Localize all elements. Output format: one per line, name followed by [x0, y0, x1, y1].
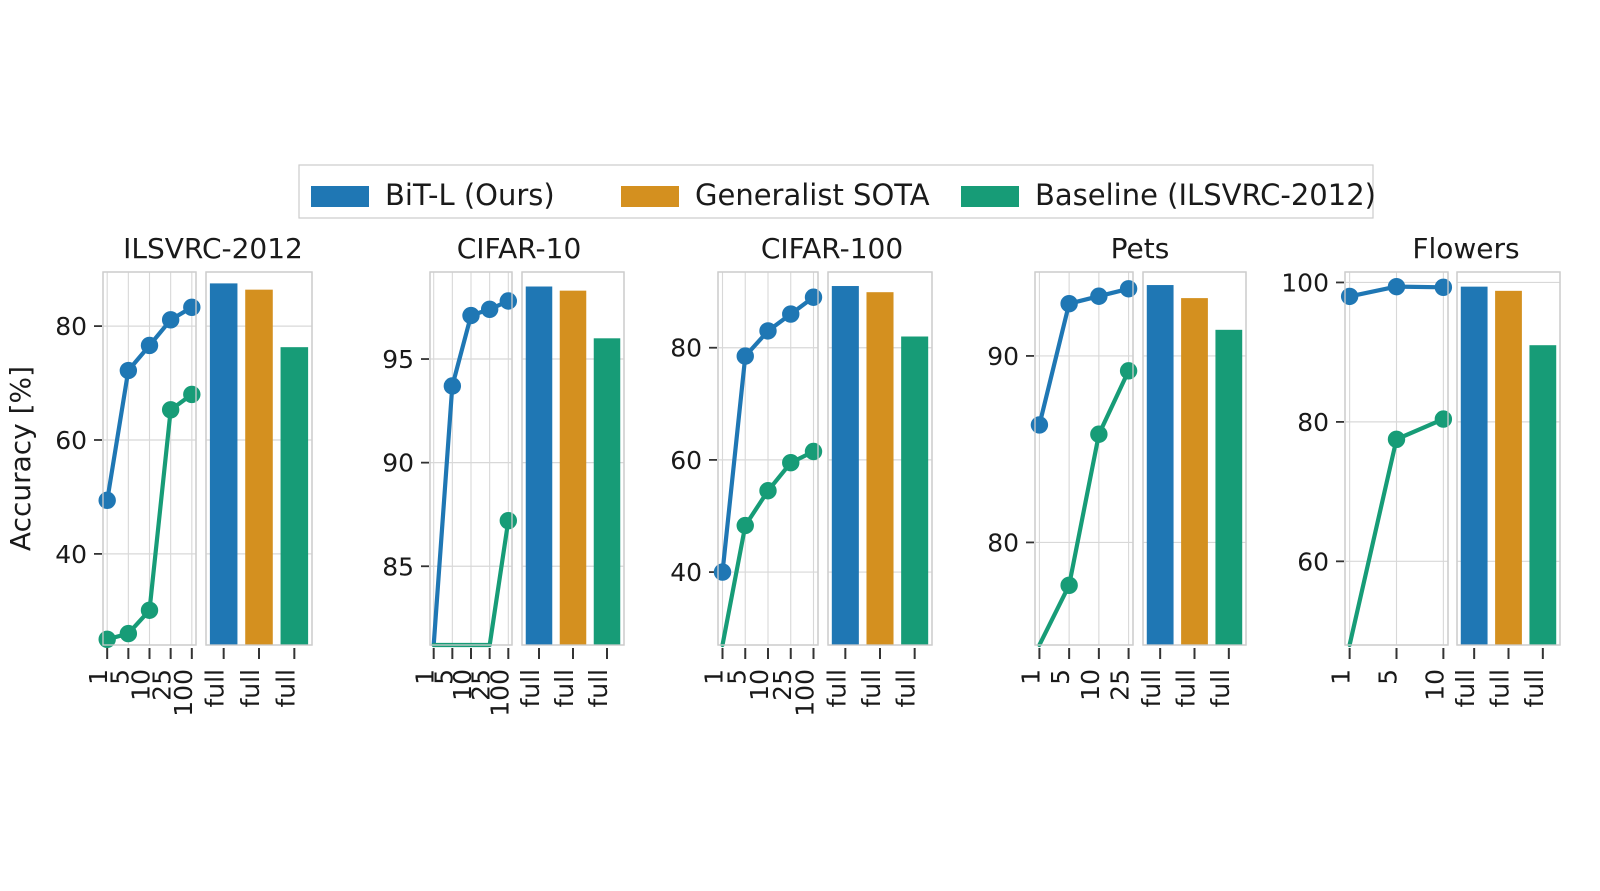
line-axes-frame — [1035, 272, 1133, 645]
panel-pets: Pets8090151025fullfullfull — [987, 232, 1246, 708]
bar-tick-label: full — [516, 669, 545, 708]
series-marker — [120, 362, 136, 378]
y-tick-label: 80 — [670, 334, 702, 363]
legend-label: Baseline (ILSVRC-2012) — [1035, 178, 1376, 212]
series-marker — [1061, 577, 1077, 593]
bar-tick-label: full — [822, 669, 851, 708]
y-tick-label: 40 — [55, 540, 87, 569]
bar-tick-label: full — [1137, 669, 1166, 708]
bar-tick-label: full — [1486, 669, 1515, 708]
panel-title: Flowers — [1412, 232, 1519, 265]
bar-tick-label: full — [201, 669, 230, 708]
panel-title: Pets — [1111, 232, 1170, 265]
series-marker — [760, 483, 776, 499]
chart-canvas: BiT-L (Ours)Generalist SOTABaseline (ILS… — [0, 0, 1600, 891]
bar — [281, 347, 309, 645]
y-tick-label: 90 — [987, 342, 1019, 371]
bar — [210, 283, 238, 645]
panel-title: ILSVRC-2012 — [123, 232, 303, 265]
bar — [901, 337, 928, 645]
bar — [866, 292, 893, 645]
series-marker — [1388, 278, 1404, 294]
bar-tick-label: full — [271, 669, 300, 708]
series-marker — [1120, 281, 1136, 297]
series-marker — [120, 625, 136, 641]
series-marker — [1091, 426, 1107, 442]
series-marker — [737, 348, 753, 364]
bar-tick-label: full — [584, 669, 613, 708]
x-tick-label: 100 — [791, 669, 820, 717]
legend-swatch — [621, 186, 679, 207]
bar-tick-label: full — [857, 669, 886, 708]
x-tick-label: 5 — [1046, 669, 1075, 685]
y-tick-label: 40 — [670, 558, 702, 587]
bar — [1529, 345, 1556, 645]
series-marker — [1435, 279, 1451, 295]
panel-title: CIFAR-100 — [761, 232, 903, 265]
series-marker — [1031, 417, 1047, 433]
x-tick-label: 5 — [1374, 669, 1403, 685]
y-tick-label: 85 — [382, 552, 414, 581]
figure-root: BiT-L (Ours)Generalist SOTABaseline (ILS… — [0, 0, 1600, 891]
series-marker — [500, 293, 516, 309]
y-axis-label: Accuracy [%] — [4, 366, 37, 551]
bar-tick-label: full — [236, 669, 265, 708]
bar — [1147, 285, 1174, 645]
y-tick-label: 90 — [382, 449, 414, 478]
bar — [594, 338, 621, 645]
legend-swatch — [311, 186, 369, 207]
series-marker — [1120, 363, 1136, 379]
x-tick-label: 1 — [1016, 669, 1045, 685]
bar-tick-label: full — [1520, 669, 1549, 708]
bar — [1461, 287, 1488, 645]
y-tick-label: 80 — [987, 528, 1019, 557]
legend-swatch — [961, 186, 1019, 207]
x-tick-label: 10 — [1076, 669, 1105, 701]
series-marker — [783, 455, 799, 471]
panel-flowers: Flowers60801001510fullfullfull — [1281, 232, 1560, 708]
panel-title: CIFAR-10 — [457, 232, 582, 265]
series-marker — [1435, 411, 1451, 427]
series-marker — [805, 289, 821, 305]
panel-cifar-10: CIFAR-10859095151025100fullfullfull — [382, 232, 624, 717]
y-tick-label: 60 — [55, 426, 87, 455]
x-tick-label: 100 — [169, 669, 198, 717]
bar — [1215, 330, 1242, 645]
series-marker — [463, 307, 479, 323]
y-tick-label: 95 — [382, 345, 414, 374]
series-marker — [760, 323, 776, 339]
series-marker — [141, 602, 157, 618]
series-marker — [99, 492, 115, 508]
bar — [832, 286, 859, 645]
x-tick-label: 100 — [485, 669, 514, 717]
series-marker — [444, 378, 460, 394]
series-marker — [162, 402, 178, 418]
bar — [1181, 298, 1208, 645]
bar — [526, 287, 553, 645]
bar — [245, 290, 273, 645]
x-tick-label: 1 — [1327, 669, 1356, 685]
series-marker — [1341, 288, 1357, 304]
y-tick-label: 100 — [1281, 268, 1329, 297]
series-marker — [141, 337, 157, 353]
y-tick-label: 80 — [55, 312, 87, 341]
bar-tick-label: full — [1172, 669, 1201, 708]
series-marker — [805, 443, 821, 459]
y-tick-label: 80 — [1297, 408, 1329, 437]
panel-ilsvrc-2012: ILSVRC-2012406080151025100fullfullfull — [55, 232, 312, 717]
series-marker — [737, 517, 753, 533]
series-marker — [1388, 431, 1404, 447]
bar-tick-label: full — [1451, 669, 1480, 708]
bar-tick-label: full — [892, 669, 921, 708]
panel-cifar-100: CIFAR-100406080151025100fullfullfull — [670, 232, 932, 717]
bar — [560, 291, 587, 645]
y-tick-label: 60 — [670, 446, 702, 475]
series-marker — [500, 512, 516, 528]
series-marker — [1061, 296, 1077, 312]
series-marker — [714, 564, 730, 580]
series-marker — [783, 306, 799, 322]
x-tick-label: 10 — [1420, 669, 1449, 701]
series-marker — [184, 386, 200, 402]
series-marker — [184, 299, 200, 315]
series-marker — [481, 301, 497, 317]
x-tick-label: 25 — [1106, 669, 1135, 701]
bar — [1495, 291, 1522, 645]
bar-tick-label: full — [1206, 669, 1235, 708]
legend-label: Generalist SOTA — [695, 178, 930, 212]
y-tick-label: 60 — [1297, 547, 1329, 576]
bar-tick-label: full — [550, 669, 579, 708]
series-marker — [1091, 288, 1107, 304]
legend-label: BiT-L (Ours) — [385, 178, 555, 212]
series-marker — [162, 312, 178, 328]
